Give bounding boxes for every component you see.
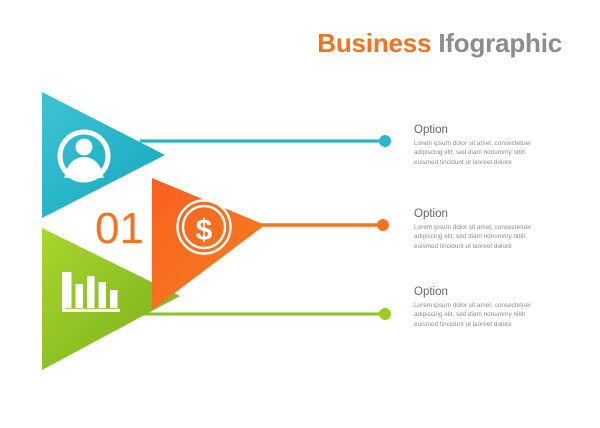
triangle-segment-1[interactable]: [42, 92, 165, 218]
option-block-1: Option Lorem ipsum dolor sit amet, conse…: [414, 124, 532, 167]
connector-line-3: [140, 308, 391, 320]
option-block-3: Option Lorem ipsum dolor sit amet, conse…: [414, 286, 532, 329]
svg-text:$: $: [196, 214, 213, 247]
option-body-1: Lorem ipsum dolor sit amet, consectetuer…: [414, 139, 532, 167]
option-body-2: Lorem ipsum dolor sit amet, consectetuer…: [414, 223, 532, 251]
option-title-3: Option: [414, 286, 532, 299]
infographic-canvas: Business Ifographic: [0, 0, 600, 428]
option-title-1: Option: [414, 124, 532, 137]
option-title-2: Option: [414, 208, 532, 221]
step-number-label: 01: [95, 204, 144, 253]
option-block-2: Option Lorem ipsum dolor sit amet, conse…: [414, 208, 532, 251]
connector-line-1: [140, 135, 391, 147]
connector-endpoint-3: [379, 308, 391, 320]
connector-endpoint-1: [379, 135, 391, 147]
connector-endpoint-2: [377, 219, 389, 231]
option-body-3: Lorem ipsum dolor sit amet, consectetuer…: [414, 301, 532, 329]
triangle-segment-2[interactable]: $: [152, 178, 265, 310]
